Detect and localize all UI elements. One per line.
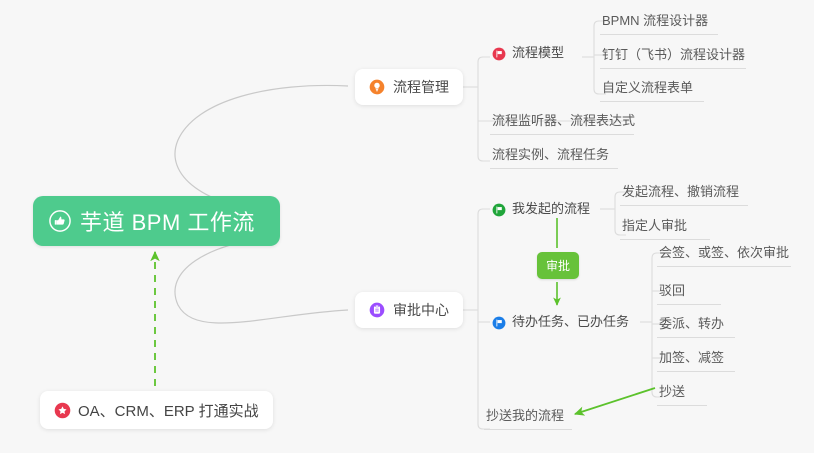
annotation-chip-approval: 审批: [537, 252, 579, 279]
mindmap-canvas: 芋道 BPM 工作流 流程管理 流程模型 BPMN 流程设计器 钉钉（飞书）流程…: [0, 0, 814, 453]
annotation-arrows: [0, 0, 814, 453]
annotation-label: 审批: [546, 259, 570, 273]
